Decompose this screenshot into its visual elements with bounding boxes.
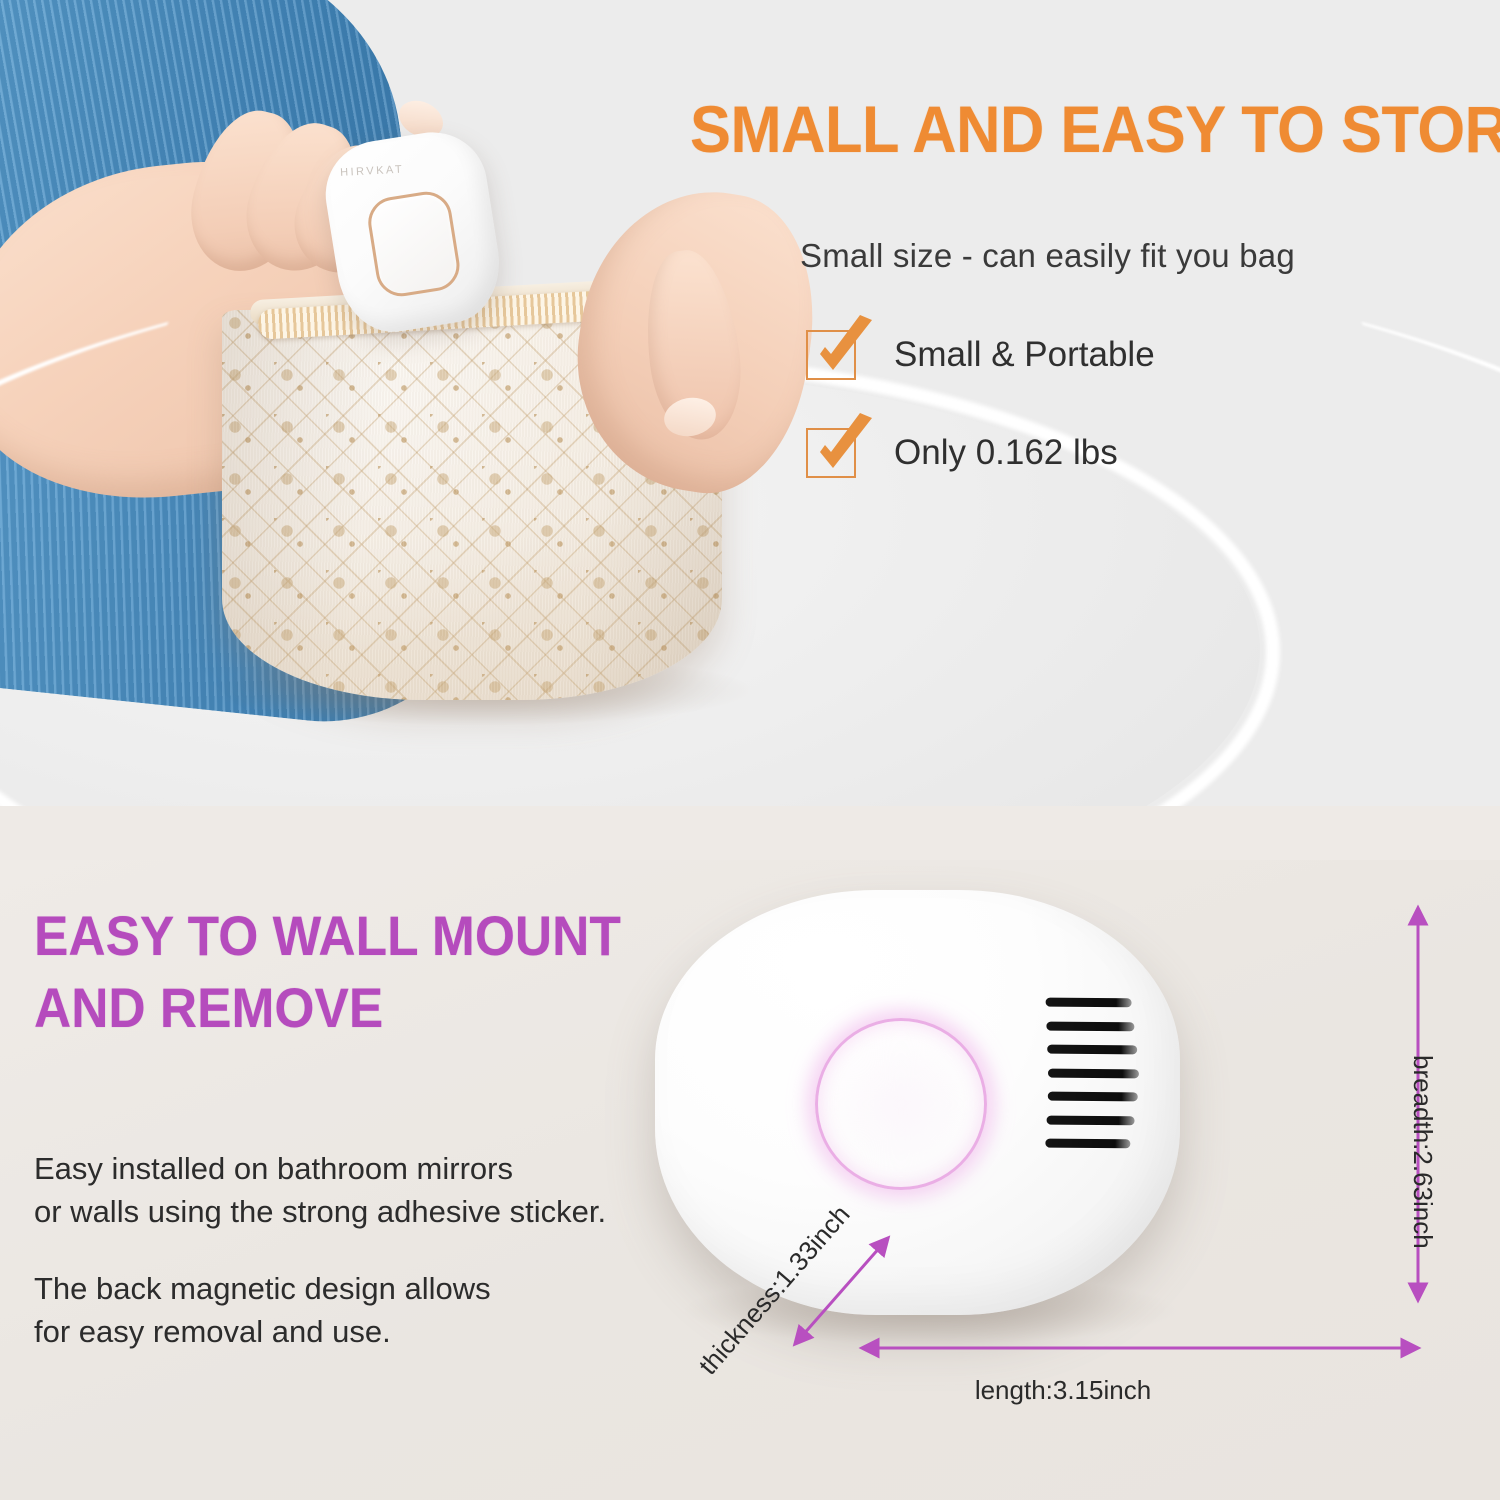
vent-grille — [1044, 998, 1145, 1149]
vent-slot — [1047, 1045, 1137, 1055]
led-ring-indicator — [815, 1018, 987, 1190]
vent-slot — [1048, 1092, 1138, 1102]
bottom-heading: EASY TO WALL MOUNT AND REMOVE — [34, 900, 623, 1043]
breadth-dimension-label: breadth:2.63inch — [1407, 1055, 1438, 1249]
easy-to-wall-mount-section: EASY TO WALL MOUNT AND REMOVE Easy insta… — [0, 860, 1500, 1500]
section-divider-arc — [0, 250, 1500, 860]
bottom-paragraph: Easy installed on bathroom mirrors or wa… — [34, 1148, 606, 1234]
vent-slot — [1048, 1068, 1139, 1078]
vent-slot — [1046, 998, 1132, 1008]
vent-slot — [1047, 1115, 1135, 1125]
length-dimension-label: length:3.15inch — [975, 1375, 1151, 1406]
product-device — [655, 890, 1180, 1315]
bottom-paragraph: The back magnetic design allows for easy… — [34, 1268, 491, 1354]
top-heading: SMALL AND EASY TO STORE — [690, 96, 1425, 162]
vent-slot — [1045, 1139, 1130, 1149]
product-brand-label: HIRVKAT — [340, 161, 450, 179]
section-divider-fill — [0, 806, 1500, 860]
small-and-easy-to-store-section: HIRVKAT SMALL AND EASY TO STORE Small si… — [0, 0, 1500, 860]
vent-slot — [1046, 1021, 1134, 1031]
